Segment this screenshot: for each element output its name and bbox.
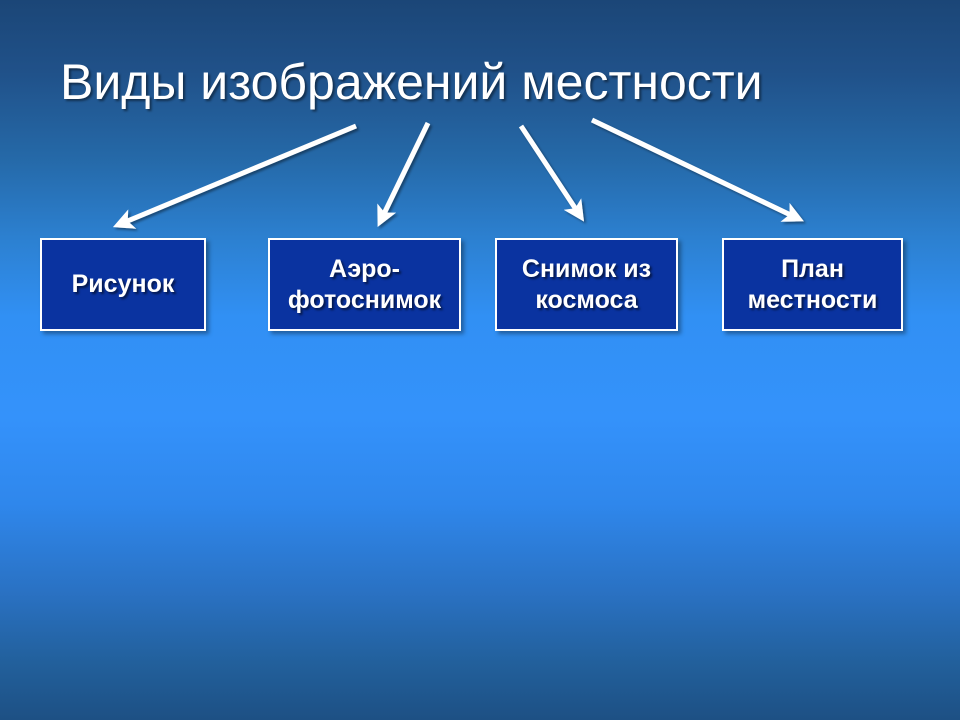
arrow-to-plan-mestnosti	[592, 120, 799, 219]
arrow-to-snimok-iz-kosmosa	[521, 126, 581, 217]
arrow-to-aerofotosnimok	[380, 123, 428, 222]
category-box-snimok-iz-kosmosa[interactable]: Снимок из космоса	[495, 238, 678, 331]
page-title: Виды изображений местности	[60, 52, 910, 112]
category-box-label: Аэро- фотоснимок	[270, 254, 459, 316]
category-box-label: План местности	[724, 254, 901, 316]
category-box-label: Снимок из космоса	[497, 254, 676, 316]
arrow-to-risunok	[118, 126, 356, 225]
category-box-plan-mestnosti[interactable]: План местности	[722, 238, 903, 331]
category-box-aerofotosnimok[interactable]: Аэро- фотоснимок	[268, 238, 461, 331]
category-box-risunok[interactable]: Рисунок	[40, 238, 206, 331]
slide-canvas: Виды изображений местности Рисунок Аэро-…	[0, 0, 960, 720]
category-box-label: Рисунок	[42, 269, 204, 300]
